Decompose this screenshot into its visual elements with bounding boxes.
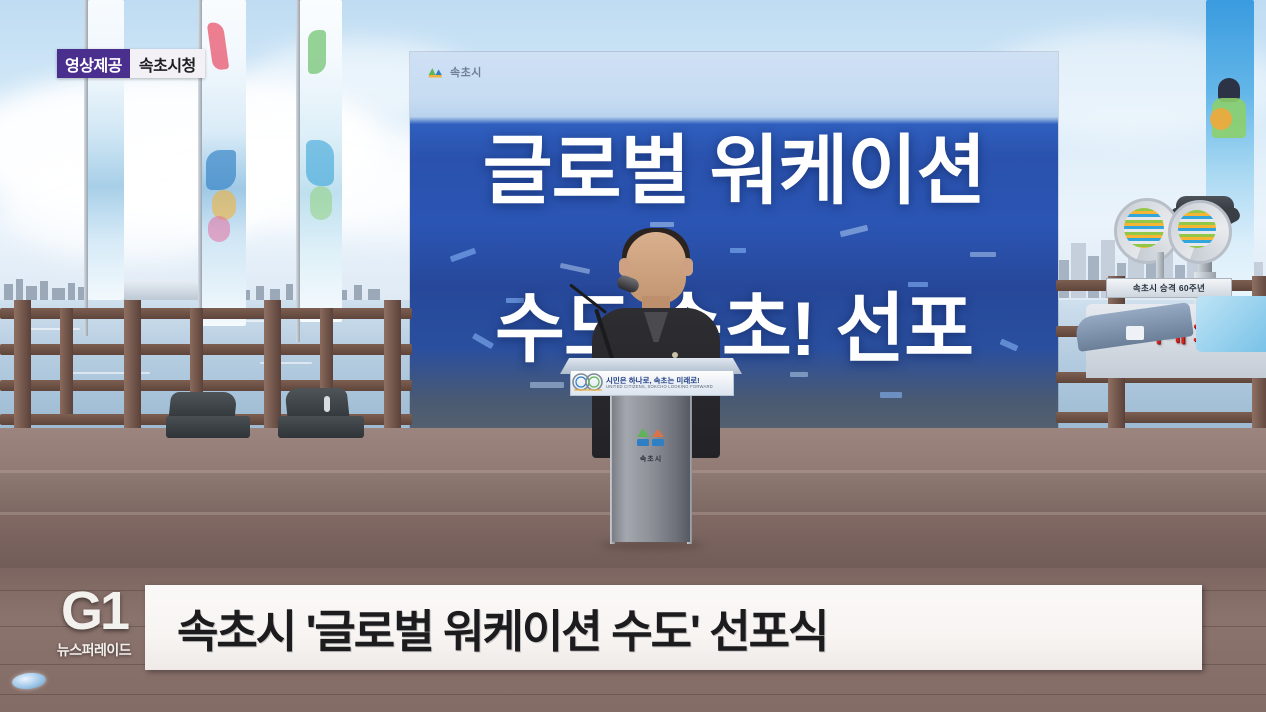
- stage-prop-panel-right: [1196, 296, 1266, 352]
- flag-banner-left-3: [300, 0, 342, 322]
- stage-monitor-2: [278, 388, 364, 438]
- stage-monitor-1: [166, 392, 250, 438]
- flag-banner-left-1: [88, 0, 124, 300]
- anniversary-plaque-text: 속초시 승격 60주년: [1133, 282, 1205, 294]
- led-headline-line-2: 수도 속초! 선포: [410, 292, 1058, 368]
- train-window: [1126, 326, 1144, 340]
- ring-60-right-inner: [1178, 210, 1216, 248]
- led-screen-header: 속초시: [428, 64, 482, 80]
- source-credit-tag: 영상제공: [57, 49, 130, 78]
- podium-column: [612, 394, 690, 542]
- broadcast-frame: 속초시 글로벌 워케이션 수도 속초! 선포: [0, 0, 1266, 712]
- led-header-label: 속초시: [450, 64, 482, 80]
- sokcho-city-emblem-icon: [636, 426, 666, 450]
- podium: 시민은 하나로, 속초는 미래로! UNITED CITIZENS, SOKCH…: [560, 358, 742, 553]
- anniversary-plaque: 속초시 승격 60주년: [1106, 278, 1232, 298]
- speaker-ear-left: [619, 258, 630, 276]
- anniversary-60-logo-icon: [571, 372, 605, 394]
- podium-city-label: 속초시: [622, 454, 680, 464]
- sokcho-logo-icon: [428, 66, 443, 79]
- ring-60-left-inner: [1124, 208, 1164, 248]
- led-headline-line-1: 글로벌 워케이션: [410, 134, 1058, 210]
- flag-banner-left-2: [202, 0, 246, 326]
- stage-deck-front: [0, 568, 1266, 712]
- speaker-head: [626, 232, 686, 304]
- podium-banner: 시민은 하나로, 속초는 미래로! UNITED CITIZENS, SOKCH…: [570, 370, 734, 396]
- source-credit-name: 속초시청: [130, 49, 205, 78]
- source-credit-badge: 영상제공 속초시청: [57, 49, 205, 78]
- podium-banner-english: UNITED CITIZENS, SOKCHO LOOKING FORWARD: [606, 385, 733, 389]
- speaker-ear-right: [682, 258, 693, 276]
